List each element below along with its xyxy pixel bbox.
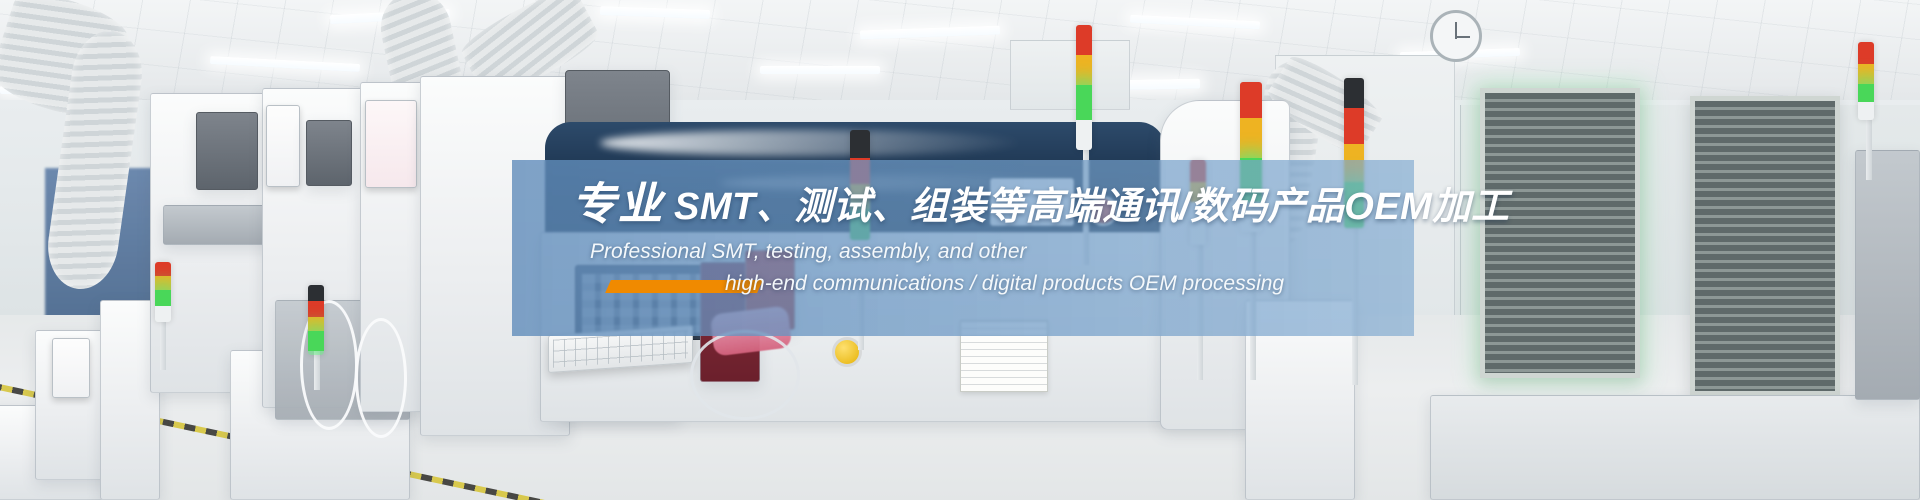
tower-dark (850, 130, 870, 158)
machine-module (196, 112, 258, 190)
signal-tower-light (155, 262, 171, 322)
tower-amber (1076, 55, 1092, 85)
ceiling-light (760, 66, 880, 74)
tower-red (1240, 82, 1262, 118)
tower-red (1344, 108, 1364, 144)
signal-tower-light (1076, 25, 1092, 150)
machine-module (306, 120, 352, 186)
storage-rack (1480, 88, 1640, 378)
tower-green (155, 290, 171, 306)
banner-subtitle-line-1: Professional SMT, testing, assembly, and… (590, 238, 1027, 266)
cover-highlight (600, 130, 1020, 156)
machine-display (52, 338, 90, 398)
smt-machine (1855, 150, 1920, 400)
tower-red (1076, 25, 1092, 55)
tower-base (1858, 102, 1874, 120)
banner-headline: 专业SMT、测试、组装等高端通讯/数码产品OEM加工 (572, 182, 1509, 230)
tower-amber (155, 276, 171, 290)
headline-emphasis: 专业 (572, 180, 674, 229)
tower-pole (1866, 110, 1872, 180)
storage-rack (1690, 96, 1840, 396)
tower-amber (308, 317, 324, 331)
machine-display (365, 100, 417, 188)
wall-partition (1010, 40, 1130, 110)
tower-dark (1344, 78, 1364, 108)
overlay-text-group: 专业SMT、测试、组装等高端通讯/数码产品OEM加工 Professional … (512, 160, 1414, 336)
cable-coil (690, 330, 800, 420)
signal-tower-light (1858, 42, 1874, 120)
wall-clock-icon (1430, 10, 1482, 62)
tower-red (1858, 42, 1874, 64)
tower-green (308, 331, 324, 351)
cable-coil (355, 318, 407, 438)
rack-base (1430, 395, 1920, 500)
hero-banner: 专业SMT、测试、组装等高端通讯/数码产品OEM加工 Professional … (0, 0, 1920, 500)
banner-subtitle-line-2: high-end communications / digital produc… (725, 270, 1284, 298)
tower-red (155, 262, 171, 276)
headline-rest: SMT、测试、组装等高端通讯/数码产品OEM加工 (674, 186, 1509, 228)
banner-text-overlay: 专业SMT、测试、组装等高端通讯/数码产品OEM加工 Professional … (512, 160, 1414, 336)
tower-base (1076, 120, 1092, 150)
tower-green (1076, 85, 1092, 120)
tower-amber (1240, 118, 1262, 158)
tower-amber (1858, 64, 1874, 84)
tower-green (1858, 84, 1874, 102)
machine-display (266, 105, 300, 187)
signal-tower-light (308, 285, 324, 355)
tower-dark (308, 285, 324, 301)
tower-red (308, 301, 324, 317)
tower-base (155, 306, 171, 322)
